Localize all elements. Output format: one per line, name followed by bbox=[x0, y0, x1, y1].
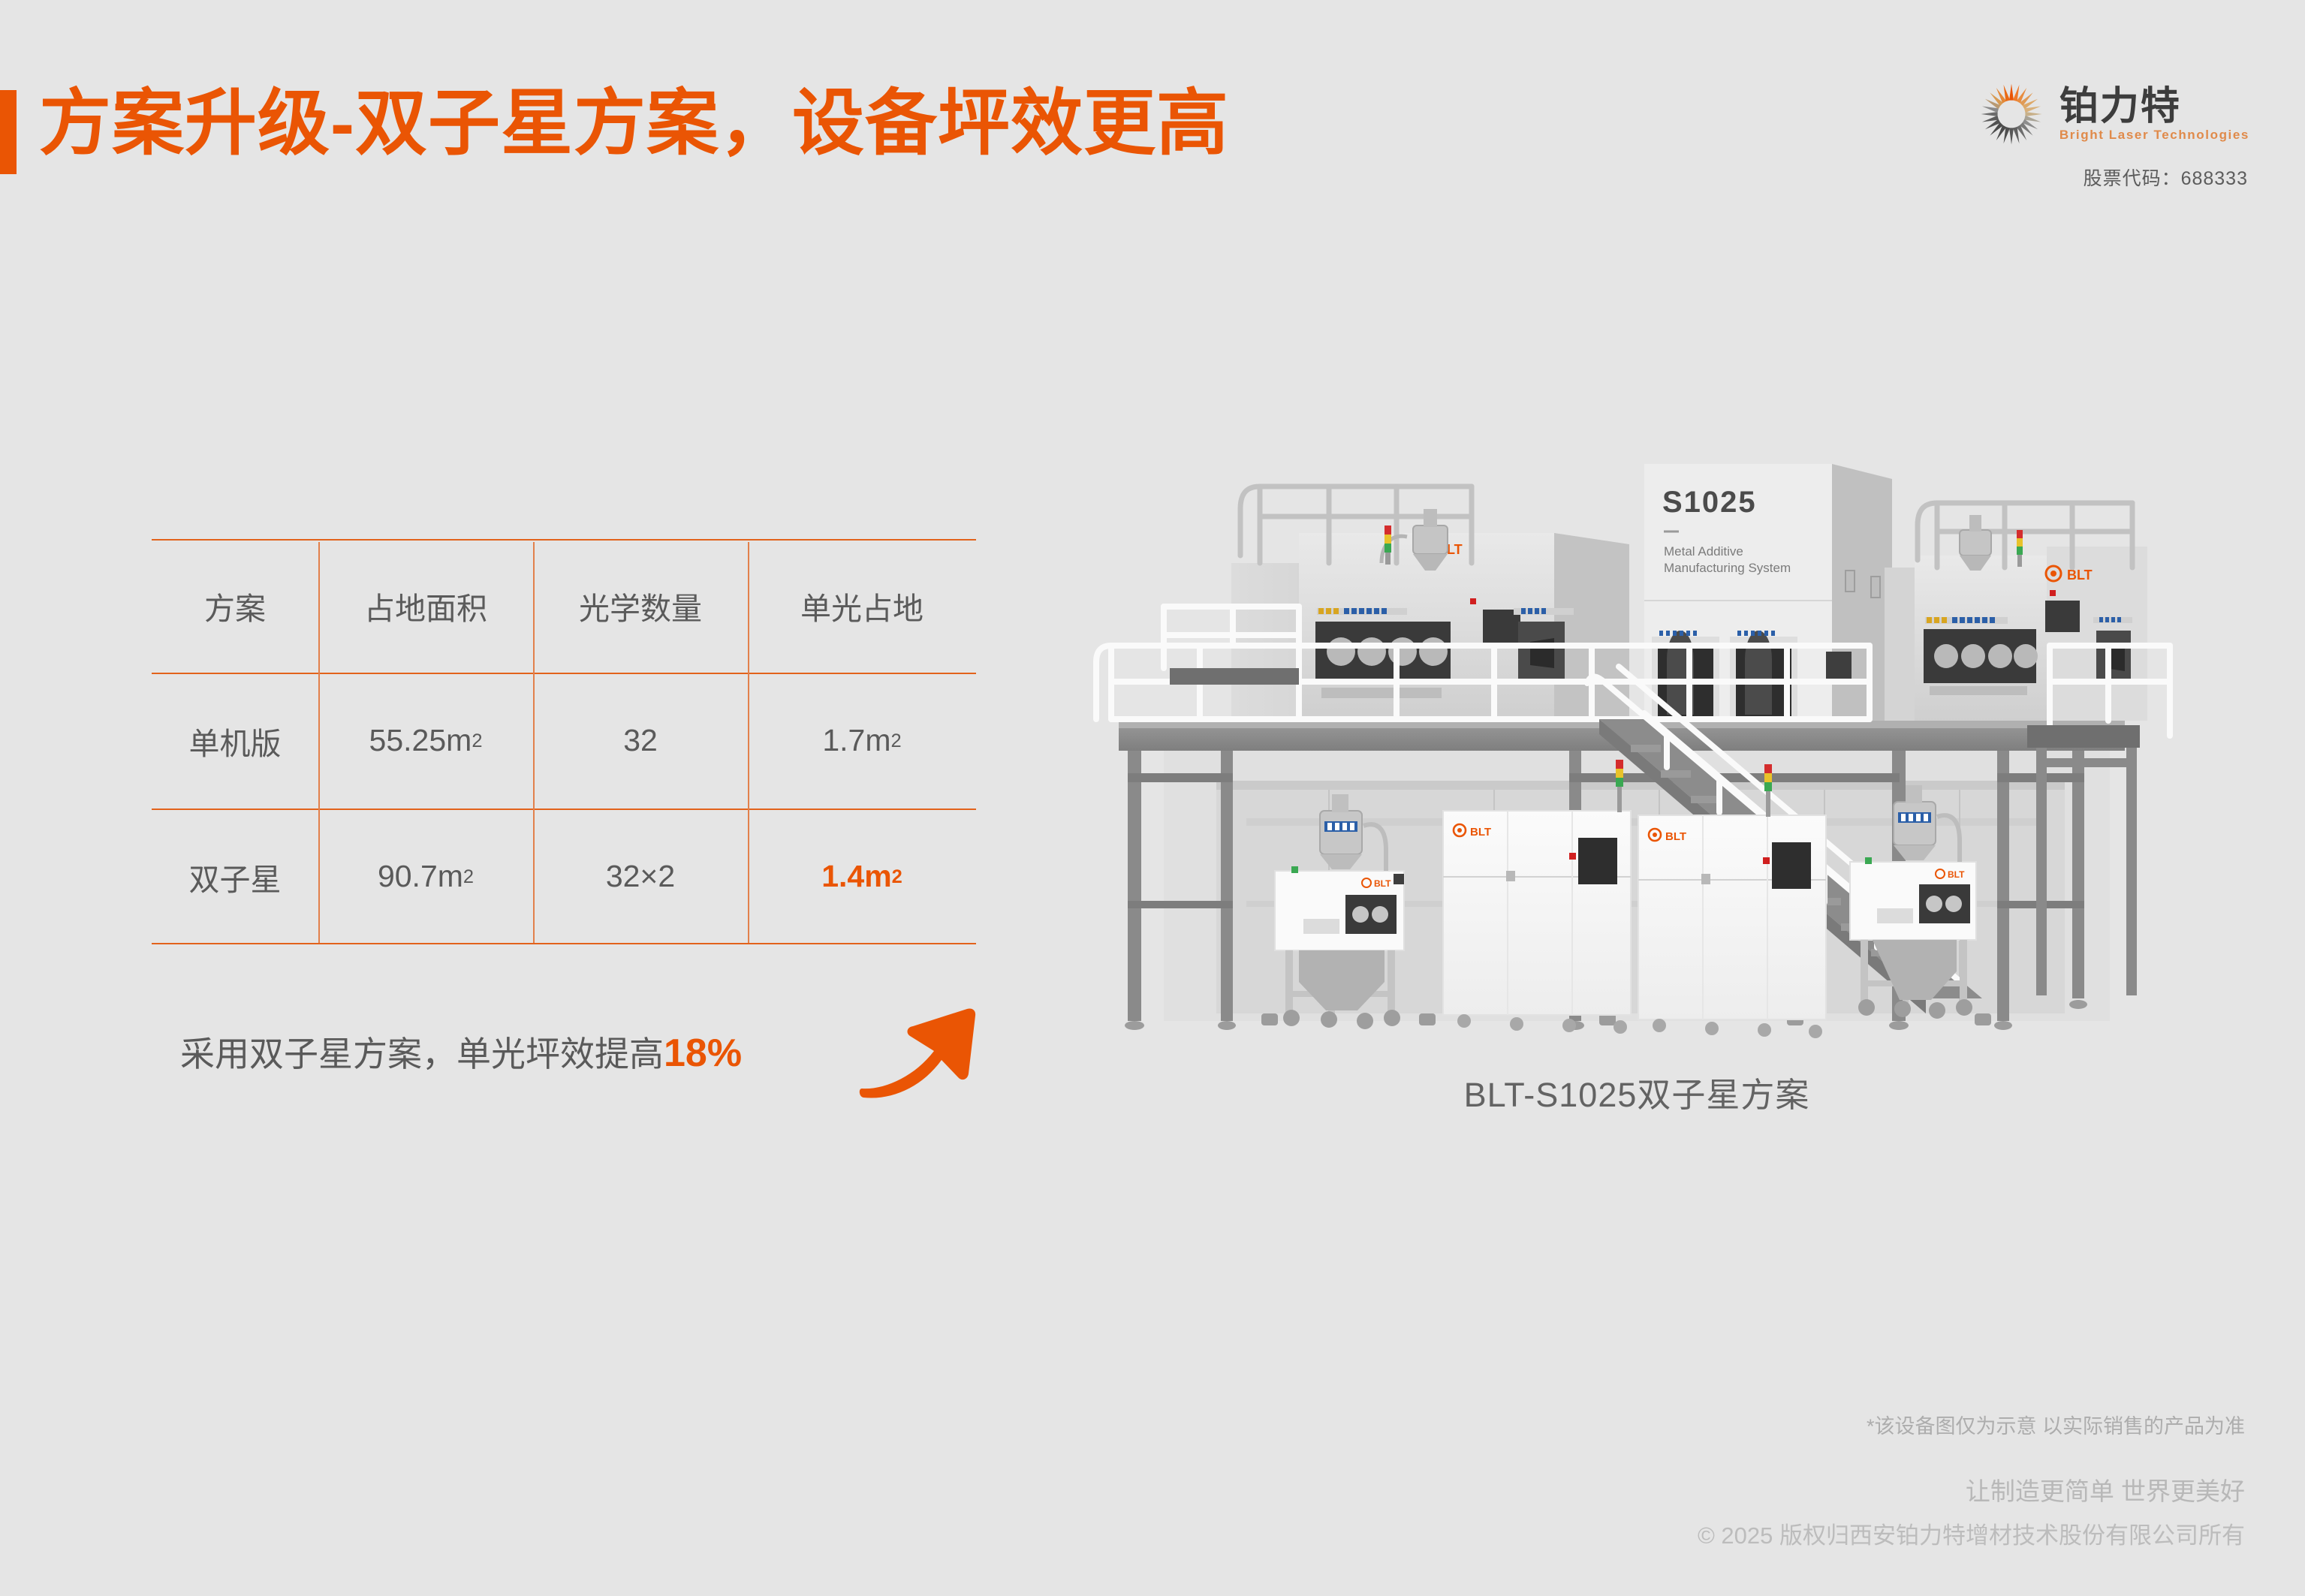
platform-step bbox=[1170, 668, 1299, 685]
footer-copyright: © 2025 版权归西安铂力特增材技术股份有限公司所有 bbox=[1698, 1516, 2245, 1550]
svg-text:BLT: BLT bbox=[1374, 878, 1391, 889]
logo-text-block: 铂力特 Bright Laser Technologies bbox=[2059, 87, 2249, 141]
cell-per-optic-value: 1.4m bbox=[821, 859, 891, 894]
cell-per-optic-value: 1.7m bbox=[822, 723, 890, 758]
column-header-area: 占地面积 bbox=[318, 539, 533, 673]
cell-area: 55.25m2 bbox=[318, 673, 533, 809]
cell-scheme: 单机版 bbox=[152, 673, 318, 809]
cell-scheme: 双子星 bbox=[152, 809, 318, 944]
company-logo: 铂力特 Bright Laser Technologies bbox=[1977, 80, 2249, 149]
cell-area-value: 90.7m bbox=[378, 859, 463, 894]
efficiency-caption: 采用双子星方案，单光坪效提高 18% bbox=[180, 1027, 742, 1077]
efficiency-percent: 18% bbox=[664, 1031, 742, 1076]
column-header-scheme: 方案 bbox=[152, 539, 318, 673]
svg-text:BLT: BLT bbox=[1948, 869, 1965, 880]
status-tower-icon bbox=[2017, 530, 2023, 567]
table-row: 单机版 55.25m2 32 1.7m2 bbox=[152, 673, 976, 809]
logo-name-cn: 铂力特 bbox=[2059, 87, 2249, 126]
svg-text:BLT: BLT bbox=[1665, 830, 1686, 843]
svg-text:BLT: BLT bbox=[2067, 568, 2093, 583]
svg-text:BLT: BLT bbox=[1470, 826, 1491, 839]
cell-area-value: 55.25m bbox=[369, 723, 472, 758]
machine-sublabel-2: Manufacturing System bbox=[1664, 561, 1791, 575]
table-row: 双子星 90.7m2 32×2 1.4m2 bbox=[152, 809, 976, 944]
table-header-row: 方案 占地面积 光学数量 单光占地 bbox=[152, 539, 976, 673]
product-caption: BLT-S1025双子星方案 bbox=[1074, 1068, 2200, 1116]
title-accent-bar bbox=[0, 90, 17, 174]
cell-optics: 32 bbox=[533, 673, 748, 809]
logo-name-en: Bright Laser Technologies bbox=[2059, 128, 2249, 141]
stock-code: 股票代码：688333 bbox=[2084, 164, 2248, 191]
footer-disclaimer: *该设备图仅为示意 以实际销售的产品为准 bbox=[1867, 1410, 2245, 1439]
footer-slogan: 让制造更简单 世界更美好 bbox=[1966, 1471, 2245, 1507]
cell-area: 90.7m2 bbox=[318, 809, 533, 944]
column-header-per-optic: 单光占地 bbox=[748, 539, 976, 673]
status-tower-icon bbox=[1385, 525, 1391, 565]
comparison-table: 方案 占地面积 光学数量 单光占地 单机版 55.25m2 32 1.7m2 双… bbox=[152, 539, 976, 944]
slide-root: 方案升级-双子星方案，设备坪效更高 bbox=[0, 0, 2305, 1596]
machine-label: S1025 bbox=[1662, 486, 1757, 519]
efficiency-caption-text: 采用双子星方案，单光坪效提高 bbox=[180, 1027, 664, 1077]
column-header-optics: 光学数量 bbox=[533, 539, 748, 673]
sunburst-logo-icon bbox=[1977, 80, 2046, 149]
up-right-arrow-icon bbox=[856, 992, 999, 1120]
cell-per-optic: 1.7m2 bbox=[748, 673, 976, 809]
page-title: 方案升级-双子星方案，设备坪效更高 bbox=[39, 75, 1229, 173]
machine-sublabel-1: Metal Additive bbox=[1664, 544, 1743, 559]
cell-per-optic-highlight: 1.4m2 bbox=[748, 809, 976, 944]
powder-hopper bbox=[1960, 515, 1991, 571]
cell-optics: 32×2 bbox=[533, 809, 748, 944]
product-image: BLT bbox=[1074, 420, 2200, 1058]
